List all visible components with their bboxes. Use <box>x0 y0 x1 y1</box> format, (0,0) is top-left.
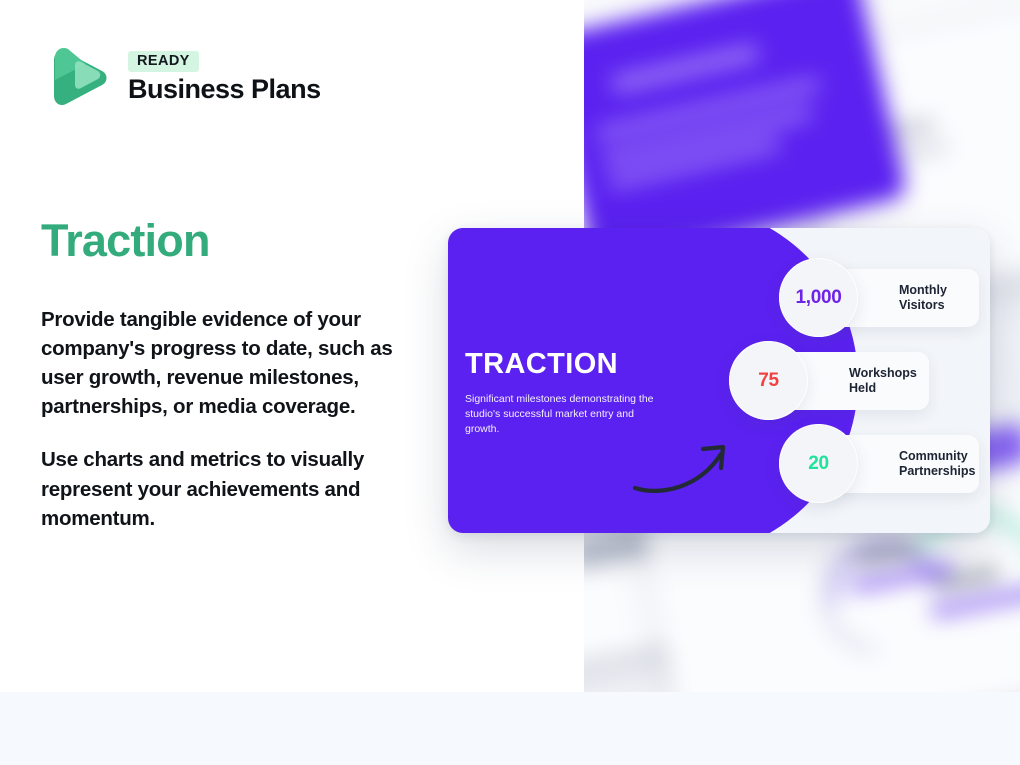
page-title: Traction <box>41 218 210 263</box>
slide-page: READY Business Plans Traction Provide ta… <box>0 0 1020 765</box>
brand-text: READY Business Plans <box>128 51 321 105</box>
ready-badge: READY <box>128 51 199 73</box>
metric-label: Monthly Visitors <box>899 269 979 327</box>
body-paragraph-1: Provide tangible evidence of your compan… <box>41 305 421 421</box>
slide-preview-card[interactable]: TRACTION Significant milestones demonstr… <box>448 228 990 533</box>
metric-value-bubble: 20 <box>779 424 858 503</box>
brand-logo[interactable]: READY Business Plans <box>42 40 321 116</box>
metric-row[interactable]: 20 Community Partnerships <box>779 435 979 493</box>
metric-row[interactable]: 75 Workshops Held <box>729 352 929 410</box>
metric-label: Community Partnerships <box>899 435 979 493</box>
metrics-list: 1,000 Monthly Visitors 75 Workshops Held… <box>448 228 990 533</box>
metric-label: Workshops Held <box>849 352 929 410</box>
metric-row[interactable]: 1,000 Monthly Visitors <box>779 269 979 327</box>
play-logo-icon <box>42 40 114 116</box>
metric-value-bubble: 75 <box>729 341 808 420</box>
body-copy: Provide tangible evidence of your compan… <box>41 305 421 533</box>
brand-title: Business Plans <box>128 75 321 105</box>
bottom-band <box>0 692 1020 765</box>
metric-value-bubble: 1,000 <box>779 258 858 337</box>
body-paragraph-2: Use charts and metrics to visually repre… <box>41 445 421 532</box>
